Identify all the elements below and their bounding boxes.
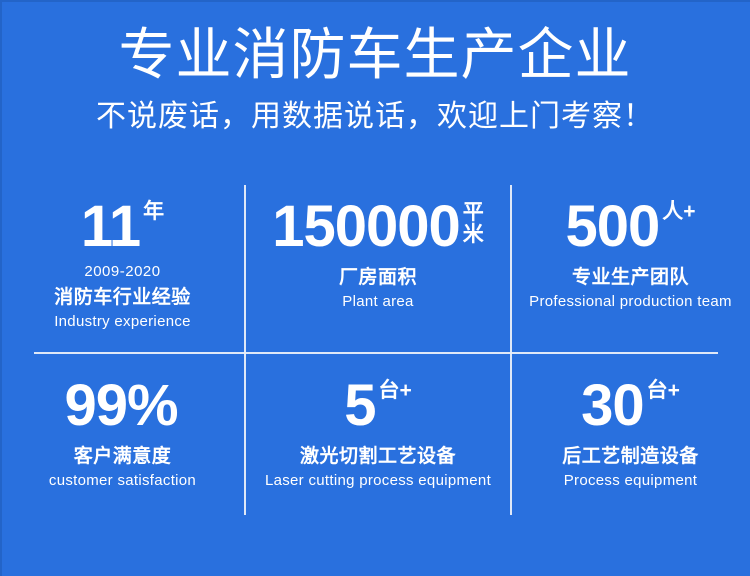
- stat-unit: 平 米: [463, 202, 484, 246]
- promo-banner: 专业消防车生产企业 不说废话，用数据说话，欢迎上门考察！ 11 年 2009-2…: [0, 0, 750, 576]
- stat-label-cn: 专业生产团队: [572, 265, 689, 290]
- stat-cell-laser-cutting-equipment: 5 台+ 激光切割工艺设备 Laser cutting process equi…: [245, 353, 511, 518]
- stat-number: 11: [81, 196, 140, 258]
- stats-grid: 11 年 2009-2020 消防车行业经验 Industry experien…: [0, 182, 750, 518]
- stat-label-en: Plant area: [342, 291, 413, 312]
- stat-cell-industry-experience: 11 年 2009-2020 消防车行业经验 Industry experien…: [0, 182, 245, 353]
- stat-number: 30: [581, 375, 644, 437]
- vertical-divider-2: [510, 185, 512, 515]
- stat-number: 99%: [64, 375, 177, 437]
- stat-unit: 年: [143, 200, 164, 224]
- stat-cell-process-equipment: 30 台+ 后工艺制造设备 Process equipment: [511, 353, 750, 518]
- stat-label-cn: 客户满意度: [74, 444, 172, 469]
- stat-unit: 台+: [647, 379, 680, 403]
- stat-label-en: Laser cutting process equipment: [265, 470, 491, 491]
- horizontal-divider: [34, 352, 718, 354]
- page-subtitle: 不说废话，用数据说话，欢迎上门考察！: [0, 98, 750, 136]
- stat-cell-plant-area: 150000 平 米 厂房面积 Plant area: [245, 182, 511, 353]
- stat-number: 500: [565, 196, 659, 258]
- stat-unit: 人+: [662, 200, 695, 224]
- stat-figure: 11 年: [81, 196, 164, 258]
- stat-range: 2009-2020: [84, 262, 160, 282]
- stat-label-cn: 后工艺制造设备: [562, 444, 699, 469]
- stat-label-en: customer satisfaction: [49, 470, 196, 491]
- stat-figure: 99%: [64, 375, 180, 437]
- stat-label-cn: 消防车行业经验: [54, 285, 191, 310]
- page-title: 专业消防车生产企业: [0, 22, 750, 88]
- stat-label-en: Professional production team: [529, 291, 732, 312]
- stat-number: 5: [344, 375, 375, 437]
- stat-figure: 5 台+: [344, 375, 412, 437]
- stat-figure: 30 台+: [581, 375, 680, 437]
- stat-figure: 500 人+: [565, 196, 695, 258]
- stat-unit: 台+: [379, 379, 412, 403]
- stat-number: 150000: [272, 196, 460, 258]
- stat-cell-customer-satisfaction: 99% 客户满意度 customer satisfaction: [0, 353, 245, 518]
- stat-figure: 150000 平 米: [272, 196, 484, 258]
- stat-label-en: Industry experience: [54, 311, 191, 332]
- stat-label-cn: 激光切割工艺设备: [300, 444, 456, 469]
- banner-header: 专业消防车生产企业 不说废话，用数据说话，欢迎上门考察！: [0, 22, 750, 136]
- stat-label-en: Process equipment: [564, 470, 698, 491]
- stat-label-cn: 厂房面积: [339, 265, 417, 290]
- stat-cell-production-team: 500 人+ 专业生产团队 Professional production te…: [511, 182, 750, 353]
- vertical-divider-1: [244, 185, 246, 515]
